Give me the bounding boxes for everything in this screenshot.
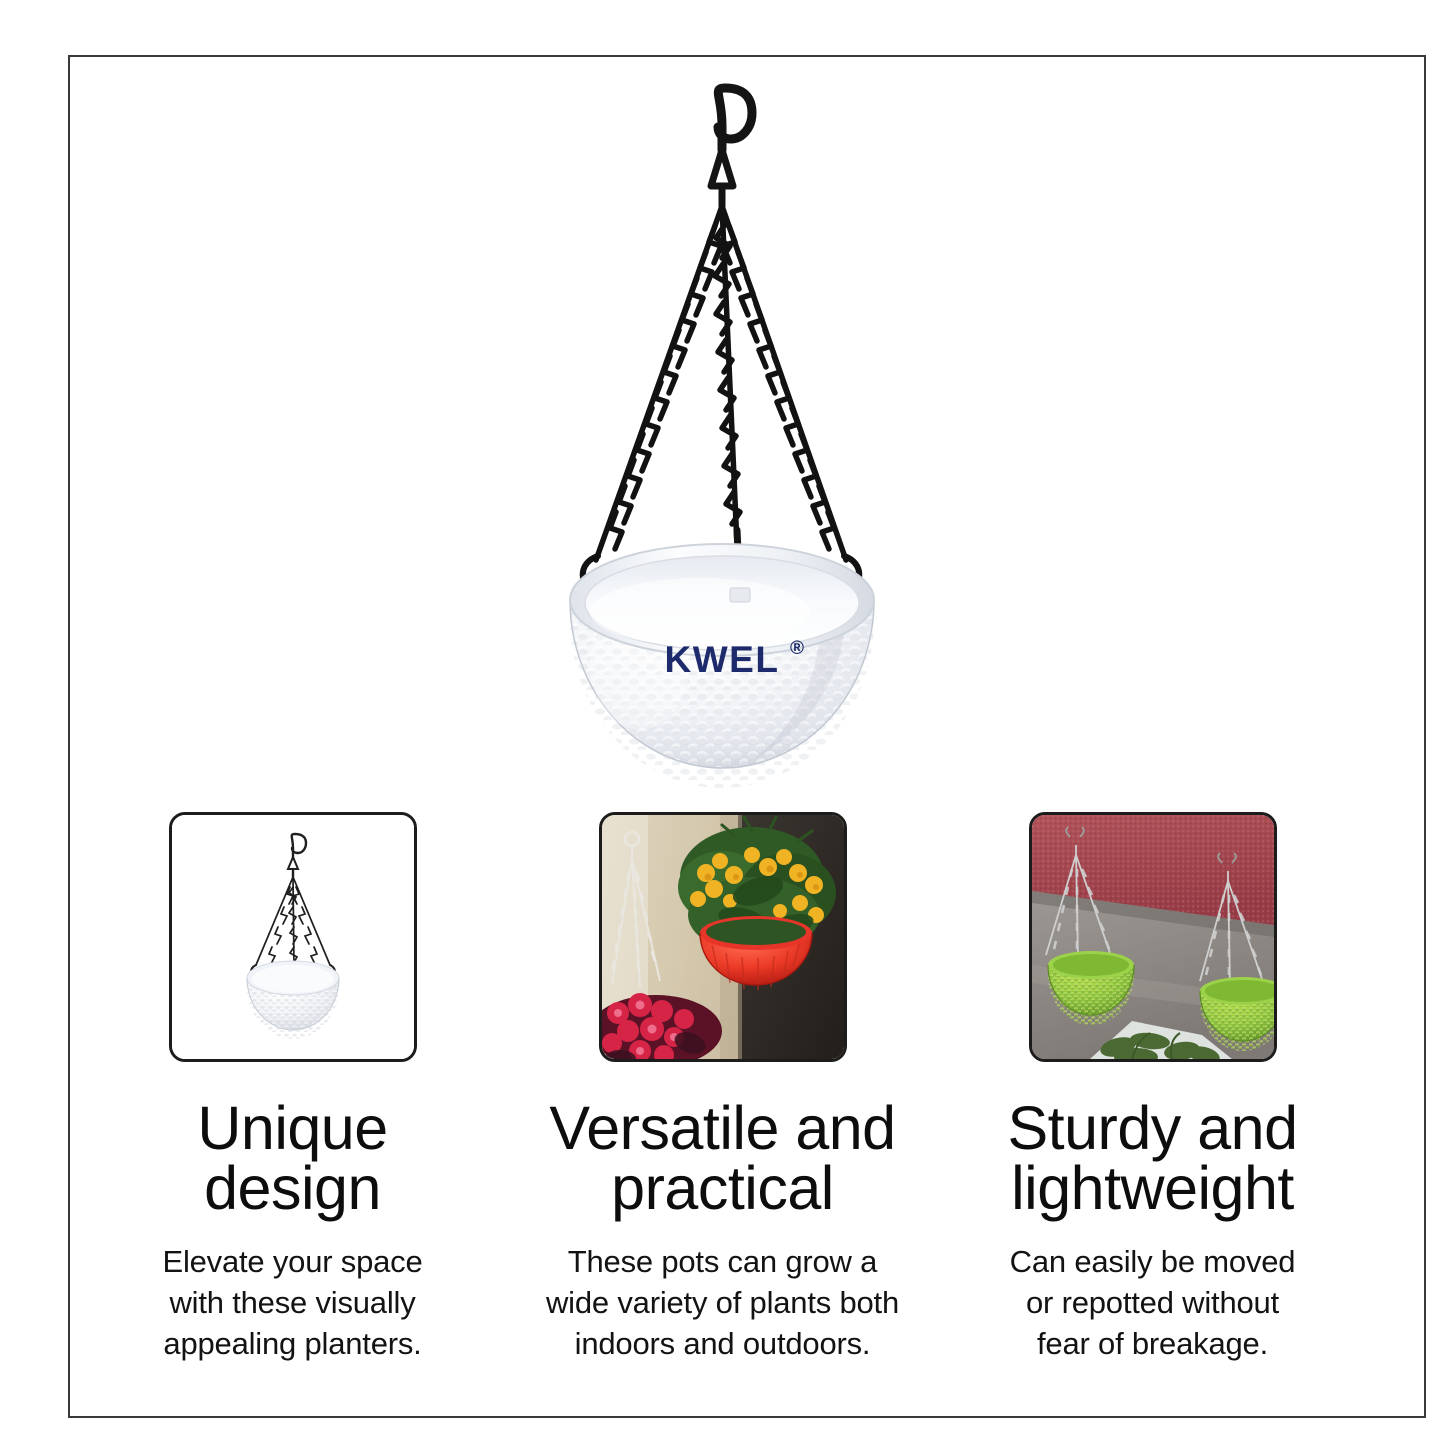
feature-title: Versatile and practical bbox=[549, 1098, 895, 1219]
feature-column-versatile-practical: Versatile and practical These pots can g… bbox=[520, 812, 925, 1364]
thumb-product-white-planter[interactable] bbox=[169, 812, 417, 1062]
feature-column-unique-design: Unique design Elevate your space with th… bbox=[90, 812, 495, 1364]
thumb-lifestyle-red-planter[interactable] bbox=[599, 812, 847, 1062]
feature-title: Sturdy and lightweight bbox=[1007, 1098, 1297, 1219]
feature-row: Unique design Elevate your space with th… bbox=[90, 812, 1355, 1412]
feature-description: Can easily be moved or repotted without … bbox=[973, 1241, 1333, 1365]
thumb-lifestyle-green-planters[interactable] bbox=[1029, 812, 1277, 1062]
feature-column-sturdy-lightweight: Sturdy and lightweight Can easily be mov… bbox=[950, 812, 1355, 1364]
hanging-planter-illustration: KWEL ® bbox=[0, 0, 1445, 800]
feature-description: These pots can grow a wide variety of pl… bbox=[523, 1241, 923, 1365]
feature-title: Unique design bbox=[197, 1098, 387, 1219]
s-hook-icon bbox=[711, 88, 752, 206]
brand-logo-text: KWEL bbox=[665, 639, 780, 680]
infographic-page: KWEL ® bbox=[0, 0, 1445, 1445]
brand-registered-mark: ® bbox=[790, 638, 804, 659]
thumb-3-illustration bbox=[1032, 815, 1274, 1059]
feature-description: Elevate your space with these visually a… bbox=[128, 1241, 458, 1365]
planter-bowl: KWEL ® bbox=[560, 544, 890, 796]
hero-product-image: KWEL ® bbox=[0, 0, 1445, 800]
thumb-2-illustration bbox=[602, 815, 844, 1059]
chain-center bbox=[715, 206, 740, 594]
thumb-1-illustration bbox=[172, 815, 414, 1059]
